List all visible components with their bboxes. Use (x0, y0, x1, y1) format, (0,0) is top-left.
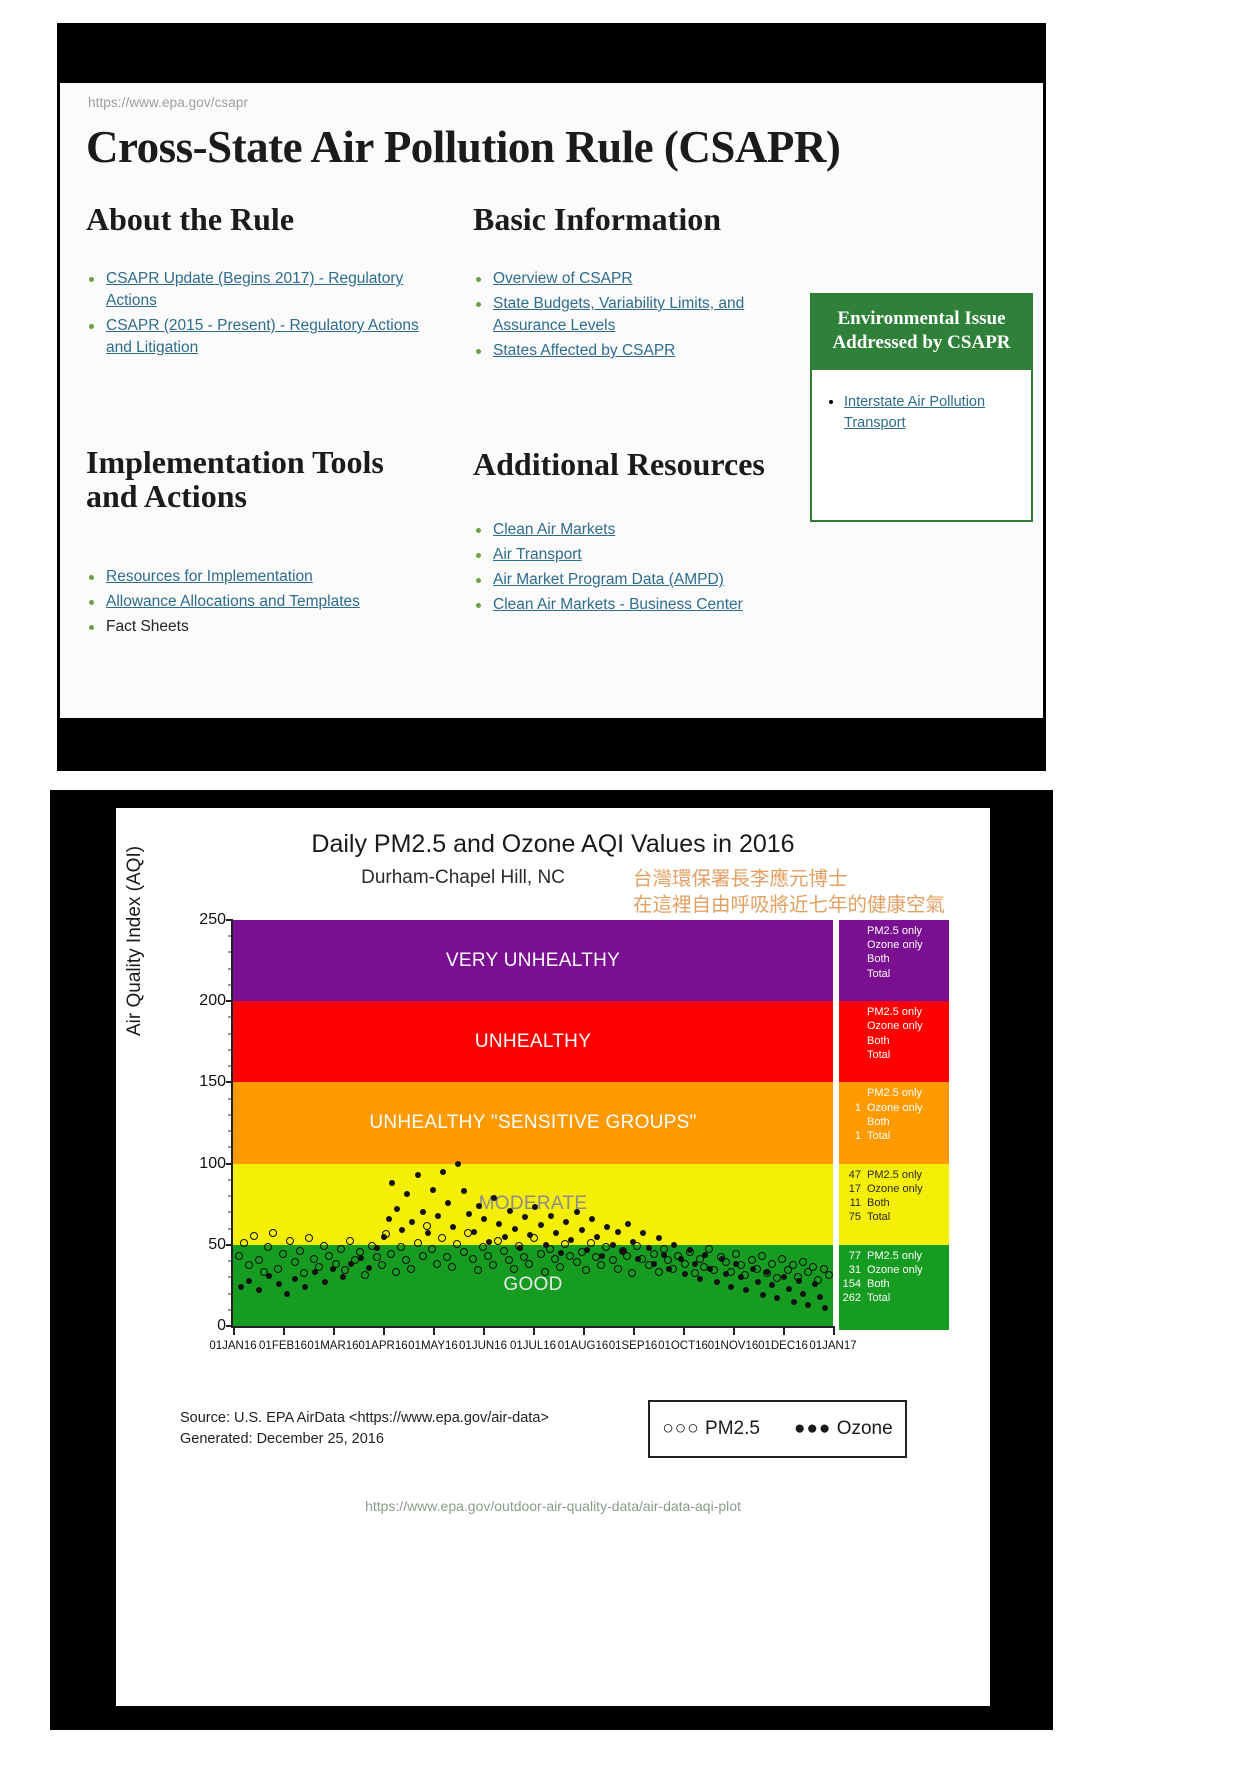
data-point-pm25 (240, 1239, 248, 1247)
y-tick-label: 0 (217, 1317, 226, 1335)
link-business-center[interactable]: Clean Air Markets - Business Center (493, 596, 743, 613)
data-point-ozone (322, 1279, 328, 1285)
data-point-ozone (358, 1255, 364, 1261)
page-url: https://www.epa.gov/csapr (88, 95, 248, 110)
count-label: Ozone only (867, 1101, 923, 1115)
data-point-ozone (714, 1279, 720, 1285)
x-tick-mark (483, 1326, 485, 1335)
x-tick-label: 01SEP16 (609, 1340, 658, 1352)
link-overview-of-csapr[interactable]: Overview of CSAPR (493, 270, 633, 287)
data-point-pm25 (537, 1250, 545, 1258)
count-row: 31Ozone only (839, 1263, 949, 1277)
link-list-basic-information: Overview of CSAPR State Budgets, Variabi… (473, 268, 773, 365)
y-axis-label: Air Quality Index (AQI) (124, 846, 146, 1036)
count-row: 11Both (839, 1196, 949, 1210)
data-point-pm25 (773, 1274, 781, 1282)
y-minor-tick (228, 952, 233, 953)
counts-good: 77PM2.5 only31Ozone only154Both262Total (839, 1245, 949, 1330)
count-value (839, 1034, 861, 1048)
x-tick-mark (783, 1326, 785, 1335)
count-label: Ozone only (867, 938, 923, 952)
y-tick-label: 100 (199, 1155, 226, 1173)
count-value (839, 967, 861, 981)
data-point-pm25 (296, 1247, 304, 1255)
slide-csapr-webpage: https://www.epa.gov/csapr Cross-State Ai… (57, 23, 1046, 771)
data-point-pm25 (655, 1268, 663, 1276)
data-point-ozone (276, 1281, 282, 1287)
x-tick-label: 01MAY16 (408, 1340, 458, 1352)
y-tick-mark (226, 1163, 233, 1165)
data-point-pm25 (448, 1263, 456, 1271)
y-minor-tick (228, 1293, 233, 1294)
list-item: Clean Air Markets (473, 519, 773, 541)
data-point-ozone (630, 1239, 636, 1245)
y-minor-tick (228, 1179, 233, 1180)
band-label: UNHEALTHY "SENSITIVE GROUPS" (369, 1112, 696, 1134)
data-point-ozone (791, 1299, 797, 1305)
data-point-ozone (386, 1216, 392, 1222)
count-row: 47PM2.5 only (839, 1168, 949, 1182)
data-point-ozone (435, 1213, 441, 1219)
data-point-ozone (760, 1292, 766, 1298)
data-point-pm25 (768, 1260, 776, 1268)
callout-title: Environmental Issue Addressed by CSAPR (812, 295, 1031, 365)
data-point-pm25 (414, 1239, 422, 1247)
link-fact-sheets[interactable]: Fact Sheets (106, 618, 189, 635)
y-minor-tick (228, 1098, 233, 1099)
count-row: Total (839, 1048, 949, 1062)
count-row: 77PM2.5 only (839, 1249, 949, 1263)
data-point-ozone (589, 1216, 595, 1222)
source-line-2: Generated: December 25, 2016 (180, 1429, 549, 1450)
data-point-pm25 (419, 1252, 427, 1260)
data-point-ozone (563, 1219, 569, 1225)
data-point-ozone (502, 1234, 508, 1240)
callout-body: Interstate Air Pollution Transport (812, 370, 1031, 444)
data-point-ozone (381, 1234, 387, 1240)
chinese-annotation-line-2: 在這裡自由呼吸將近七年的健康空氣 (633, 892, 945, 918)
count-value (839, 924, 861, 938)
x-tick-mark (583, 1326, 585, 1335)
count-label: Total (867, 1048, 890, 1062)
y-minor-tick (228, 1114, 233, 1115)
data-point-ozone (486, 1239, 492, 1245)
data-point-ozone (750, 1266, 756, 1272)
data-point-ozone (558, 1250, 564, 1256)
list-item: Resources for Implementation (86, 566, 436, 588)
count-row: Ozone only (839, 938, 949, 952)
x-tick-label: 01MAR16 (307, 1340, 358, 1352)
count-value: 75 (839, 1210, 861, 1224)
source-line-1: Source: U.S. EPA AirData <https://www.ep… (180, 1408, 549, 1429)
data-point-ozone (284, 1291, 290, 1297)
aqi-chart-card: Daily PM2.5 and Ozone AQI Values in 2016… (116, 808, 990, 1706)
y-tick-mark (226, 919, 233, 921)
slide-aqi-chart: Daily PM2.5 and Ozone AQI Values in 2016… (50, 790, 1053, 1730)
data-point-ozone (496, 1221, 502, 1227)
data-point-ozone (455, 1161, 461, 1167)
count-value (839, 1005, 861, 1019)
count-label: Total (867, 1210, 890, 1224)
y-tick-mark (226, 1000, 233, 1002)
count-value: 1 (839, 1129, 861, 1143)
data-point-pm25 (407, 1265, 415, 1273)
data-point-ozone (625, 1221, 631, 1227)
data-point-ozone (543, 1242, 549, 1248)
link-csapr-update[interactable]: CSAPR Update (Begins 2017) - Regulatory … (106, 270, 403, 309)
count-row: 1Total (839, 1129, 949, 1143)
data-point-pm25 (778, 1255, 786, 1263)
data-point-pm25 (274, 1265, 282, 1273)
data-point-ozone (548, 1213, 554, 1219)
x-tick-label: 01DEC16 (758, 1340, 808, 1352)
count-row: 1Ozone only (839, 1101, 949, 1115)
x-tick-label: 01JAN17 (809, 1340, 856, 1352)
count-value (839, 952, 861, 966)
y-minor-tick (228, 1131, 233, 1132)
y-minor-tick (228, 1017, 233, 1018)
data-point-ozone (366, 1265, 372, 1271)
data-point-ozone (507, 1208, 513, 1214)
count-label: PM2.5 only (867, 1249, 922, 1263)
x-tick-mark (283, 1326, 285, 1335)
data-point-pm25 (250, 1232, 258, 1240)
band-label: VERY UNHEALTHY (446, 950, 620, 972)
y-tick-label: 200 (199, 992, 226, 1010)
x-tick-label: 01AUG16 (558, 1340, 609, 1352)
data-point-ozone (517, 1245, 523, 1251)
data-point-ozone (822, 1305, 828, 1311)
x-tick-mark (333, 1326, 335, 1335)
data-point-pm25 (510, 1265, 518, 1273)
y-tick-mark (226, 1081, 233, 1083)
link-states-affected[interactable]: States Affected by CSAPR (493, 342, 675, 359)
legend-entry-ozone: ●●● Ozone (794, 1418, 893, 1440)
list-item: Air Market Program Data (AMPD) (473, 569, 773, 591)
page-title: Cross-State Air Pollution Rule (CSAPR) (86, 121, 840, 173)
y-minor-tick (228, 1261, 233, 1262)
data-point-ozone (440, 1169, 446, 1175)
aqi-band-unhealthy-sensitive-groups: UNHEALTHY "SENSITIVE GROUPS" (233, 1082, 833, 1163)
link-list-additional-resources: Clean Air Markets Air Transport Air Mark… (473, 519, 773, 619)
data-point-ozone (812, 1281, 818, 1287)
data-point-ozone (615, 1229, 621, 1235)
data-point-ozone (594, 1234, 600, 1240)
link-resources-for-implementation[interactable]: Resources for Implementation (106, 568, 313, 585)
count-value: 77 (839, 1249, 861, 1263)
data-point-ozone (599, 1253, 605, 1259)
data-point-pm25 (809, 1263, 817, 1271)
webpage-screenshot: https://www.epa.gov/csapr Cross-State Ai… (60, 83, 1043, 718)
x-tick-mark (233, 1326, 235, 1335)
count-value (839, 1115, 861, 1129)
link-allowance-allocations[interactable]: Allowance Allocations and Templates (106, 593, 360, 610)
plot-area-wrapper: Air Quality Index (AQI) VERY UNHEALTHYUN… (116, 916, 990, 1386)
data-point-pm25 (373, 1253, 381, 1261)
x-tick-mark (733, 1326, 735, 1335)
data-point-pm25 (566, 1252, 574, 1260)
x-tick-label: 01JUL16 (510, 1340, 556, 1352)
link-state-budgets[interactable]: State Budgets, Variability Limits, and A… (493, 295, 744, 334)
x-tick-mark (833, 1326, 835, 1335)
x-tick-mark (433, 1326, 435, 1335)
list-item: States Affected by CSAPR (473, 340, 773, 362)
list-item: Air Transport (473, 544, 773, 566)
x-tick-label: 01NOV16 (708, 1340, 759, 1352)
count-row: 17Ozone only (839, 1182, 949, 1196)
y-minor-tick (228, 1196, 233, 1197)
count-row: 154Both (839, 1277, 949, 1291)
count-value: 17 (839, 1182, 861, 1196)
data-point-pm25 (325, 1252, 333, 1260)
count-label: PM2.5 only (867, 1168, 922, 1182)
data-point-pm25 (460, 1248, 468, 1256)
x-tick-mark (633, 1326, 635, 1335)
chinese-annotation-line-1: 台灣環保署長李應元博士 (633, 866, 945, 892)
count-label: Ozone only (867, 1019, 923, 1033)
list-item: CSAPR Update (Begins 2017) - Regulatory … (86, 268, 431, 312)
data-point-ozone (527, 1232, 533, 1238)
count-label: Total (867, 967, 890, 981)
count-label: Both (867, 1034, 890, 1048)
list-item: CSAPR (2015 - Present) - Regulatory Acti… (86, 315, 431, 359)
aqi-band-good: GOOD (233, 1245, 833, 1326)
count-value (839, 1019, 861, 1033)
section-heading-additional-resources: Additional Resources (473, 446, 765, 483)
count-label: Ozone only (867, 1182, 923, 1196)
count-label: Total (867, 1129, 890, 1143)
data-point-ozone (246, 1278, 252, 1284)
data-point-ozone (394, 1206, 400, 1212)
data-point-pm25 (320, 1242, 328, 1250)
data-point-ozone (512, 1226, 518, 1232)
data-point-pm25 (235, 1252, 243, 1260)
count-label: Both (867, 1115, 890, 1129)
link-ampd[interactable]: Air Market Program Data (AMPD) (493, 571, 724, 588)
count-row: PM2.5 only (839, 1005, 949, 1019)
y-minor-tick (228, 1066, 233, 1067)
y-tick-label: 150 (199, 1073, 226, 1091)
link-list-implementation: Resources for Implementation Allowance A… (86, 566, 436, 641)
x-tick-mark (683, 1326, 685, 1335)
y-minor-tick (228, 936, 233, 937)
count-value (839, 1048, 861, 1062)
count-row: Both (839, 1034, 949, 1048)
section-heading-basic-information: Basic Information (473, 201, 721, 238)
link-interstate-air-pollution-transport[interactable]: Interstate Air Pollution Transport (844, 394, 985, 431)
data-point-pm25 (245, 1261, 253, 1269)
list-item: Overview of CSAPR (473, 268, 773, 290)
count-row: 75Total (839, 1210, 949, 1224)
count-value: 31 (839, 1263, 861, 1277)
count-row: Ozone only (839, 1019, 949, 1033)
x-tick-mark (383, 1326, 385, 1335)
data-point-pm25 (433, 1260, 441, 1268)
count-value (839, 938, 861, 952)
count-row: Both (839, 1115, 949, 1129)
data-point-ozone (584, 1247, 590, 1253)
section-heading-implementation-tools: Implementation Tools and Actions (86, 446, 416, 513)
y-minor-tick (228, 1147, 233, 1148)
x-tick-label: 01JAN16 (209, 1340, 256, 1352)
y-tick-label: 250 (199, 911, 226, 929)
list-item: State Budgets, Variability Limits, and A… (473, 293, 773, 337)
count-value: 154 (839, 1277, 861, 1291)
data-point-ozone (445, 1200, 451, 1206)
aqi-band-very-unhealthy: VERY UNHEALTHY (233, 920, 833, 1001)
link-list-about-the-rule: CSAPR Update (Begins 2017) - Regulatory … (86, 268, 431, 362)
data-point-ozone (491, 1195, 497, 1201)
count-row: 262Total (839, 1291, 949, 1305)
data-point-pm25 (525, 1260, 533, 1268)
data-point-ozone (661, 1252, 667, 1258)
count-value: 1 (839, 1101, 861, 1115)
y-minor-tick (228, 984, 233, 985)
data-point-ozone (702, 1252, 708, 1258)
data-point-pm25 (438, 1234, 446, 1242)
data-point-ozone (604, 1224, 610, 1230)
data-point-ozone (786, 1286, 792, 1292)
band-label: GOOD (503, 1274, 562, 1296)
y-minor-tick (228, 968, 233, 969)
data-point-ozone (466, 1211, 472, 1217)
x-tick-label: 01APR16 (358, 1340, 407, 1352)
scatter-plot: VERY UNHEALTHYUNHEALTHYUNHEALTHY "SENSIT… (231, 920, 833, 1328)
link-clean-air-markets[interactable]: Clean Air Markets (493, 521, 615, 538)
chinese-annotation: 台灣環保署長李應元博士 在這裡自由呼吸將近七年的健康空氣 (633, 866, 945, 919)
x-tick-mark (533, 1326, 535, 1335)
data-point-ozone (755, 1279, 761, 1285)
count-label: PM2.5 only (867, 1005, 922, 1019)
counts-unhealthy: PM2.5 onlyOzone onlyBothTotal (839, 1001, 949, 1086)
data-point-ozone (481, 1216, 487, 1222)
count-value: 47 (839, 1168, 861, 1182)
count-value: 11 (839, 1196, 861, 1210)
legend-label-ozone: Ozone (837, 1418, 893, 1439)
legend-entry-pm25: ○○○ PM2.5 (662, 1418, 760, 1440)
x-tick-label: 01JUN16 (459, 1340, 507, 1352)
data-point-pm25 (732, 1250, 740, 1258)
y-minor-tick (228, 1033, 233, 1034)
band-label: UNHEALTHY (475, 1031, 591, 1053)
y-tick-mark (226, 1244, 233, 1246)
y-minor-tick (228, 1277, 233, 1278)
counts-unhealthy-sensitive-groups: PM2.5 only1Ozone onlyBoth1Total (839, 1082, 949, 1167)
source-note: Source: U.S. EPA AirData <https://www.ep… (180, 1408, 549, 1450)
count-label: PM2.5 only (867, 924, 922, 938)
y-minor-tick (228, 1212, 233, 1213)
x-tick-label: 01FEB16 (259, 1340, 307, 1352)
data-point-pm25 (337, 1245, 345, 1253)
data-point-ozone (476, 1203, 482, 1209)
count-label: Both (867, 1196, 890, 1210)
data-point-ozone (409, 1219, 415, 1225)
count-row: Both (839, 952, 949, 966)
y-tick-mark (226, 1325, 233, 1327)
data-point-pm25 (799, 1258, 807, 1266)
data-point-ozone (430, 1187, 436, 1193)
y-tick-label: 50 (208, 1236, 226, 1254)
list-item: Clean Air Markets - Business Center (473, 594, 773, 616)
data-point-ozone (471, 1229, 477, 1235)
count-label: Both (867, 952, 890, 966)
data-point-ozone (719, 1256, 725, 1262)
count-row: Total (839, 967, 949, 981)
data-point-ozone (266, 1273, 272, 1279)
chart-title: Daily PM2.5 and Ozone AQI Values in 2016 (116, 830, 990, 859)
aqi-band-unhealthy: UNHEALTHY (233, 1001, 833, 1082)
data-point-ozone (678, 1256, 684, 1262)
data-point-pm25 (255, 1256, 263, 1264)
data-point-pm25 (494, 1237, 502, 1245)
data-point-pm25 (758, 1252, 766, 1260)
counts-very-unhealthy: PM2.5 onlyOzone onlyBothTotal (839, 920, 949, 1005)
callout-environmental-issue: Environmental Issue Addressed by CSAPR I… (810, 293, 1033, 522)
data-point-ozone (522, 1214, 528, 1220)
legend-label-pm25: PM2.5 (705, 1418, 760, 1439)
data-point-pm25 (291, 1258, 299, 1266)
count-label: Ozone only (867, 1263, 923, 1277)
slide-deck: https://www.epa.gov/csapr Cross-State Ai… (0, 0, 1241, 1766)
data-point-pm25 (587, 1239, 595, 1247)
data-point-pm25 (378, 1261, 386, 1269)
count-label: PM2.5 only (867, 1086, 922, 1100)
filled-circle-icon: ●●● (794, 1418, 831, 1439)
link-air-transport[interactable]: Air Transport (493, 546, 582, 563)
data-point-pm25 (286, 1237, 294, 1245)
counts-moderate: 47PM2.5 only17Ozone only11Both75Total (839, 1164, 949, 1249)
y-minor-tick (228, 1309, 233, 1310)
list-item: Fact Sheets (86, 616, 436, 638)
y-minor-tick (228, 1228, 233, 1229)
list-item: Allowance Allocations and Templates (86, 591, 436, 613)
link-csapr-2015-present[interactable]: CSAPR (2015 - Present) - Regulatory Acti… (106, 317, 419, 356)
x-tick-label: 01OCT16 (658, 1340, 708, 1352)
count-value: 262 (839, 1291, 861, 1305)
count-label: Both (867, 1277, 890, 1291)
marker-legend: ○○○ PM2.5 ●●● Ozone (648, 1400, 907, 1458)
data-point-ozone (399, 1227, 405, 1233)
count-row: PM2.5 only (839, 924, 949, 938)
data-point-pm25 (484, 1252, 492, 1260)
data-point-pm25 (650, 1250, 658, 1258)
section-heading-about-the-rule: About the Rule (86, 201, 294, 238)
data-point-pm25 (614, 1265, 622, 1273)
data-point-ozone (671, 1242, 677, 1248)
count-row: PM2.5 only (839, 1086, 949, 1100)
count-value (839, 1086, 861, 1100)
data-point-pm25 (573, 1258, 581, 1266)
data-point-ozone (796, 1278, 802, 1284)
y-minor-tick (228, 1049, 233, 1050)
list-item: Interstate Air Pollution Transport (844, 392, 1021, 434)
data-point-ozone (450, 1224, 456, 1230)
count-label: Total (867, 1291, 890, 1305)
data-point-ozone (568, 1237, 574, 1243)
band-counts-legend: PM2.5 onlyOzone onlyBothTotalPM2.5 onlyO… (839, 920, 949, 1326)
data-point-ozone (817, 1294, 823, 1300)
bottom-url: https://www.epa.gov/outdoor-air-quality-… (116, 1498, 990, 1514)
open-circle-icon: ○○○ (662, 1418, 699, 1439)
